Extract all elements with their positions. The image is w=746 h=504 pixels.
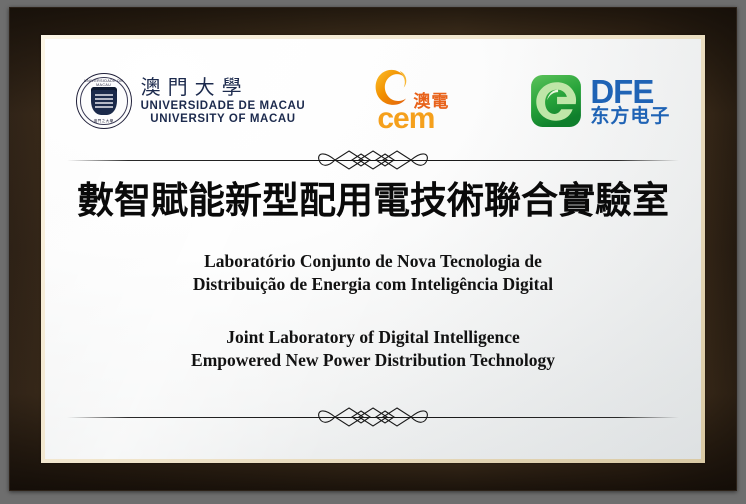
ornament-knot-icon [313,148,433,172]
logo-row: UNIVERSIDADE DE MACAU 澳門之大學 澳門大學 UNIVERS… [45,59,701,143]
dfe-text: DFE 东方电子 [590,75,670,126]
title-chinese: 數智賦能新型配用電技術聯合實驗室 [45,179,701,223]
title-english-line-2: Empowered New Power Distribution Technol… [45,349,701,372]
university-of-macau-text: 澳門大學 UNIVERSIDADE DE MACAU UNIVERSITY OF… [141,77,306,125]
um-english-name: UNIVERSITY OF MACAU [141,113,306,125]
seal-crest-icon [91,87,117,115]
title-block: 數智賦能新型配用電技術聯合實驗室 Laboratório Conjunto de… [45,179,701,372]
title-english-line-1: Joint Laboratory of Digital Intelligence [45,326,701,349]
certificate-panel: UNIVERSIDADE DE MACAU 澳門之大學 澳門大學 UNIVERS… [45,39,701,459]
university-seal-icon: UNIVERSIDADE DE MACAU 澳門之大學 [76,73,132,129]
logo-university-of-macau: UNIVERSIDADE DE MACAU 澳門之大學 澳門大學 UNIVERS… [76,73,306,129]
um-portuguese-name: UNIVERSIDADE DE MACAU [141,100,306,112]
ornament-knot-icon [313,405,433,429]
seal-ring-top-text: UNIVERSIDADE DE MACAU [77,79,131,87]
plaque-frame: UNIVERSIDADE DE MACAU 澳門之大學 澳門大學 UNIVERS… [9,7,737,491]
dfe-spiral-icon [530,74,582,128]
logo-dfe: DFE 东方电子 [530,74,670,128]
dfe-chinese-name: 东方电子 [590,107,670,126]
divider-bottom [67,404,679,430]
title-portuguese: Laboratório Conjunto de Nova Tecnologia … [45,250,701,296]
divider-top [67,147,679,173]
title-english: Joint Laboratory of Digital Intelligence… [45,326,701,372]
title-portuguese-line-2: Distribuição de Energia com Inteligência… [45,273,701,296]
logo-cem: 澳電 cem [365,63,470,139]
title-portuguese-line-1: Laboratório Conjunto de Nova Tecnologia … [45,250,701,273]
cem-wordmark: cem [377,104,434,134]
seal-ring-bottom-text: 澳門之大學 [77,119,131,124]
um-chinese-name: 澳門大學 [141,77,306,99]
